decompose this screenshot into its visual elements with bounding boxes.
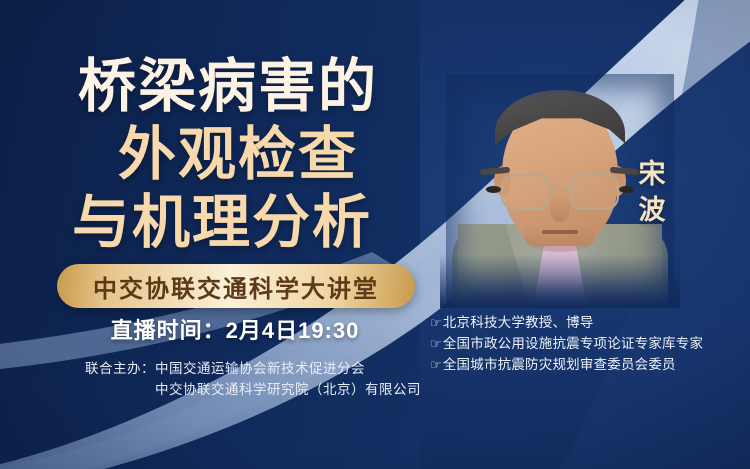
credential-item: ☞ 全国市政公用设施抗震专项论证专家库专家 xyxy=(430,333,746,354)
pointing-hand-icon: ☞ xyxy=(430,354,442,375)
pointing-hand-icon: ☞ xyxy=(430,312,442,333)
credential-text: 全国市政公用设施抗震专项论证专家库专家 xyxy=(443,333,703,354)
poster-title: 桥梁病害的 外观检查 与机理分析 xyxy=(0,58,430,252)
credential-text: 全国城市抗震防灾规划审查委员会委员 xyxy=(443,354,676,375)
live-time: 直播时间：2月4日19:30 xyxy=(0,313,470,345)
title-line-3: 与机理分析 xyxy=(72,194,430,252)
speaker-name-char-1: 宋 xyxy=(625,156,681,192)
speaker-credentials: ☞ 北京科技大学教授、博导 ☞ 全国市政公用设施抗震专项论证专家库专家 ☞ 全国… xyxy=(430,312,746,375)
organizer-line-1: 联合主办：中国交通运输协会新技术促进分会 xyxy=(0,358,452,379)
portrait-bottom-fade xyxy=(440,254,680,308)
credential-text: 北京科技大学教授、博导 xyxy=(443,312,594,333)
speaker-name-char-2: 波 xyxy=(625,192,681,228)
organizers-block: 联合主办：中国交通运输协会新技术促进分会 中交协联交通科学研究院（北京）有限公司 xyxy=(0,358,452,400)
title-line-1: 桥梁病害的 xyxy=(78,58,430,116)
series-banner: 中交协联交通科学大讲堂 xyxy=(57,264,415,308)
series-banner-label: 中交协联交通科学大讲堂 xyxy=(93,269,379,304)
organizer-line-2: 中交协联交通科学研究院（北京）有限公司 xyxy=(0,379,452,400)
speaker-name: 宋 波 xyxy=(625,156,681,228)
pointing-hand-icon: ☞ xyxy=(430,333,442,354)
title-line-2: 外观检查 xyxy=(118,126,430,184)
credential-item: ☞ 全国城市抗震防灾规划审查委员会委员 xyxy=(430,354,746,375)
credential-item: ☞ 北京科技大学教授、博导 xyxy=(430,312,746,333)
webinar-poster: 桥梁病害的 外观检查 与机理分析 中交协联交通科学大讲堂 直播时间：2月4日19… xyxy=(0,0,750,469)
